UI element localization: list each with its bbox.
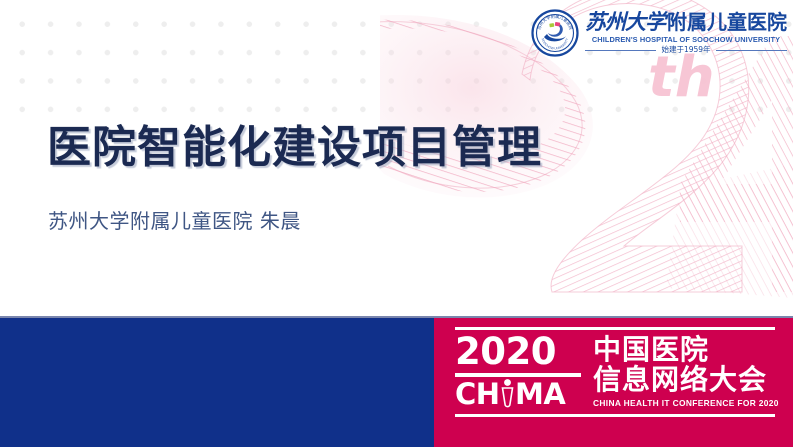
chima-wordmark: CH MA: [455, 379, 581, 409]
founded-rule-left: [585, 50, 656, 51]
footer-band-blue: [0, 318, 434, 447]
slide-subtitle: 苏州大学附属儿童医院 朱晨: [48, 205, 301, 234]
conference-name-en: CHINA HEALTH IT CONFERENCE FOR 2020: [593, 398, 779, 408]
conference-year: 2020: [455, 334, 581, 370]
hospital-name-en: CHILDREN'S HOSPITAL OF SOOCHOW UNIVERSIT…: [592, 36, 780, 43]
hospital-logo: 苏州大学附属儿童医院 SOOCHOW UNIVERSITY 苏州大学附属儿童医院…: [531, 4, 787, 62]
founded-rule-right: [716, 50, 787, 51]
hospital-founded-row: 始建于1959年: [585, 46, 787, 54]
conference-rule-bottom: [455, 414, 775, 417]
presentation-slide: th 苏州大学附属儿童医院 SOOCHOW UNI: [0, 0, 793, 447]
svg-text:MA: MA: [515, 379, 566, 409]
hospital-name-cn-block: 附属儿童医院: [667, 10, 787, 34]
conference-name-line1: 中国医院: [593, 335, 779, 365]
hospital-crest-icon: 苏州大学附属儿童医院 SOOCHOW UNIVERSITY: [531, 9, 579, 57]
hospital-name-cn: 苏州大学附属儿童医院: [585, 12, 787, 33]
hospital-name-cn-script: 苏州大学: [585, 10, 667, 34]
conference-name-line2: 信息网络大会: [593, 365, 779, 395]
conference-logo: 2020 CH MA 中国医院 信息网络大会: [455, 327, 775, 439]
svg-text:CH: CH: [455, 379, 500, 409]
hospital-founded-text: 始建于1959年: [661, 46, 710, 54]
chima-rule: [455, 373, 581, 377]
slide-title: 医院智能化建设项目管理: [47, 126, 542, 170]
